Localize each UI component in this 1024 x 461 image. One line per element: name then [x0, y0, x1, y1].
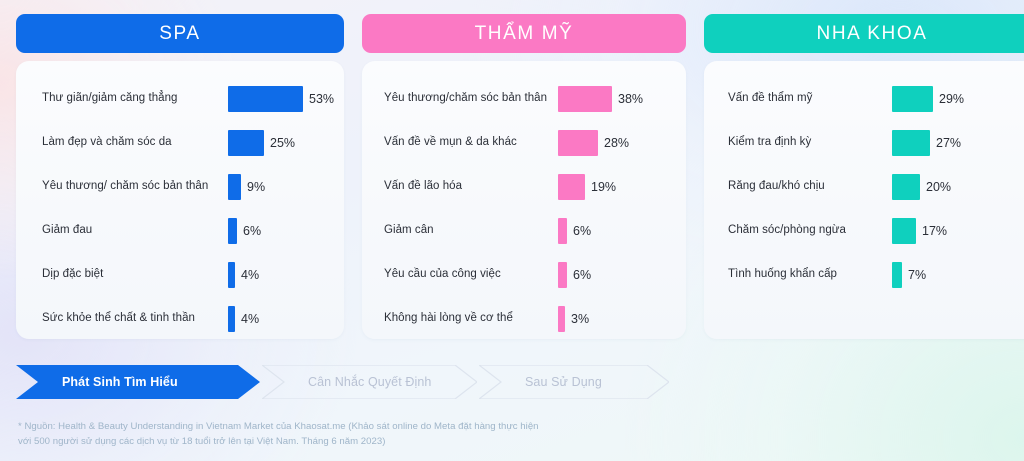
bar-list-nha-khoa: Vấn đề thẩm mỹ29%Kiểm tra định kỳ27%Răng… — [704, 77, 1024, 297]
panel-header-tham-my: THẨM MỸ — [362, 14, 686, 53]
bar-zone: 3% — [558, 306, 589, 332]
bar-list-tham-my: Yêu thương/chăm sóc bản thân38%Vấn đề về… — [362, 77, 686, 341]
bar-row: Kiểm tra định kỳ27% — [704, 121, 1024, 165]
bar-nha-khoa-4 — [892, 262, 902, 288]
bar-row-label: Giảm đau — [42, 223, 222, 239]
bar-tham-my-1 — [558, 130, 598, 156]
bar-zone: 7% — [892, 262, 926, 288]
bar-zone: 6% — [558, 262, 591, 288]
bar-value-label: 7% — [908, 268, 926, 282]
bar-value-label: 19% — [591, 180, 616, 194]
stage-label: Phát Sinh Tìm Hiểu — [16, 375, 178, 389]
bar-row: Vấn đề thẩm mỹ29% — [704, 77, 1024, 121]
bar-row: Yêu thương/ chăm sóc bản thân9% — [16, 165, 344, 209]
panel-title-nha-khoa: NHA KHOA — [817, 23, 928, 45]
bar-zone: 53% — [228, 86, 334, 112]
bar-zone: 20% — [892, 174, 951, 200]
bar-spa-5 — [228, 306, 235, 332]
bar-value-label: 9% — [247, 180, 265, 194]
panel-header-spa: SPA — [16, 14, 344, 53]
bar-tham-my-5 — [558, 306, 565, 332]
panel-header-nha-khoa: NHA KHOA — [704, 14, 1024, 53]
bar-row-label: Chăm sóc/phòng ngừa — [728, 223, 888, 239]
bar-row: Răng đau/khó chịu20% — [704, 165, 1024, 209]
panel-card-spa: Thư giãn/giảm căng thẳng53%Làm đẹp và ch… — [16, 61, 344, 339]
stage-label: Sau Sử Dụng — [479, 375, 602, 389]
stage-chevron-2[interactable]: Sau Sử Dụng — [479, 365, 669, 399]
bar-row: Giảm cân6% — [362, 209, 686, 253]
bar-zone: 4% — [228, 262, 259, 288]
bar-nha-khoa-1 — [892, 130, 930, 156]
bar-row-label: Dịp đặc biệt — [42, 267, 222, 283]
bar-row: Làm đẹp và chăm sóc da25% — [16, 121, 344, 165]
bar-zone: 9% — [228, 174, 265, 200]
bar-value-label: 20% — [926, 180, 951, 194]
footnote-line-1: * Nguồn: Health & Beauty Understanding i… — [18, 420, 698, 435]
bar-zone: 25% — [228, 130, 295, 156]
panel-tham-my: THẨM MỸ Yêu thương/chăm sóc bản thân38%V… — [362, 14, 686, 339]
panel-spa: SPA Thư giãn/giảm căng thẳng53%Làm đẹp v… — [16, 14, 344, 339]
bar-row-label: Không hài lòng về cơ thể — [384, 311, 556, 327]
footnote: * Nguồn: Health & Beauty Understanding i… — [18, 420, 698, 450]
bar-row: Yêu cầu của công việc6% — [362, 253, 686, 297]
bar-row: Yêu thương/chăm sóc bản thân38% — [362, 77, 686, 121]
bar-tham-my-4 — [558, 262, 567, 288]
panel-nha-khoa: NHA KHOA Vấn đề thẩm mỹ29%Kiểm tra định … — [704, 14, 1024, 339]
bar-spa-2 — [228, 174, 241, 200]
bar-row-label: Răng đau/khó chịu — [728, 179, 888, 195]
bar-zone: 27% — [892, 130, 961, 156]
bar-row: Vấn đề về mụn & da khác28% — [362, 121, 686, 165]
bar-zone: 28% — [558, 130, 629, 156]
bar-row: Giảm đau6% — [16, 209, 344, 253]
bar-row: Vấn đề lão hóa19% — [362, 165, 686, 209]
bar-value-label: 6% — [243, 224, 261, 238]
bar-row: Sức khỏe thể chất & tinh thần4% — [16, 297, 344, 341]
bar-nha-khoa-0 — [892, 86, 933, 112]
journey-stage-strip: Phát Sinh Tìm HiểuCân Nhắc Quyết ĐịnhSau… — [16, 365, 671, 399]
bar-zone: 6% — [558, 218, 591, 244]
bar-row-label: Vấn đề về mụn & da khác — [384, 135, 556, 151]
panel-title-tham-my: THẨM MỸ — [475, 23, 574, 45]
stage-chevron-0[interactable]: Phát Sinh Tìm Hiểu — [16, 365, 260, 399]
bar-row-label: Kiểm tra định kỳ — [728, 135, 888, 151]
panel-card-tham-my: Yêu thương/chăm sóc bản thân38%Vấn đề về… — [362, 61, 686, 339]
bar-list-spa: Thư giãn/giảm căng thẳng53%Làm đẹp và ch… — [16, 77, 344, 341]
bar-row-label: Giảm cân — [384, 223, 556, 239]
bar-spa-1 — [228, 130, 264, 156]
bar-value-label: 28% — [604, 136, 629, 150]
bar-zone: 17% — [892, 218, 947, 244]
bar-spa-3 — [228, 218, 237, 244]
bar-row: Thư giãn/giảm căng thẳng53% — [16, 77, 344, 121]
bar-value-label: 4% — [241, 268, 259, 282]
bar-row-label: Vấn đề lão hóa — [384, 179, 556, 195]
bar-zone: 4% — [228, 306, 259, 332]
stage-chevron-1[interactable]: Cân Nhắc Quyết Định — [262, 365, 477, 399]
bar-value-label: 25% — [270, 136, 295, 150]
bar-zone: 38% — [558, 86, 643, 112]
bar-row-label: Làm đẹp và chăm sóc da — [42, 135, 222, 151]
footnote-line-2: với 500 người sử dụng các dịch vụ từ 18 … — [18, 435, 698, 450]
bar-spa-0 — [228, 86, 303, 112]
bar-value-label: 53% — [309, 92, 334, 106]
bar-spa-4 — [228, 262, 235, 288]
infographic-canvas: SPA Thư giãn/giảm căng thẳng53%Làm đẹp v… — [0, 0, 1024, 461]
bar-value-label: 6% — [573, 224, 591, 238]
bar-value-label: 4% — [241, 312, 259, 326]
bar-value-label: 17% — [922, 224, 947, 238]
bar-row-label: Sức khỏe thể chất & tinh thần — [42, 311, 222, 327]
stage-label: Cân Nhắc Quyết Định — [262, 375, 432, 389]
bar-nha-khoa-2 — [892, 174, 920, 200]
bar-row-label: Vấn đề thẩm mỹ — [728, 91, 888, 107]
panel-title-spa: SPA — [159, 23, 200, 45]
bar-row-label: Yêu thương/chăm sóc bản thân — [384, 91, 556, 107]
bar-tham-my-2 — [558, 174, 585, 200]
bar-tham-my-0 — [558, 86, 612, 112]
bar-row-label: Yêu thương/ chăm sóc bản thân — [42, 179, 222, 195]
bar-row-label: Thư giãn/giảm căng thẳng — [42, 91, 222, 107]
bar-value-label: 3% — [571, 312, 589, 326]
bar-value-label: 6% — [573, 268, 591, 282]
bar-row: Tình huống khẩn cấp7% — [704, 253, 1024, 297]
bar-value-label: 29% — [939, 92, 964, 106]
bar-row-label: Yêu cầu của công việc — [384, 267, 556, 283]
bar-nha-khoa-3 — [892, 218, 916, 244]
bar-value-label: 38% — [618, 92, 643, 106]
bar-zone: 6% — [228, 218, 261, 244]
bar-row-label: Tình huống khẩn cấp — [728, 267, 888, 283]
bar-zone: 29% — [892, 86, 964, 112]
bar-row: Không hài lòng về cơ thể3% — [362, 297, 686, 341]
bar-zone: 19% — [558, 174, 616, 200]
bar-value-label: 27% — [936, 136, 961, 150]
bar-row: Dịp đặc biệt4% — [16, 253, 344, 297]
bar-tham-my-3 — [558, 218, 567, 244]
bar-row: Chăm sóc/phòng ngừa17% — [704, 209, 1024, 253]
panel-card-nha-khoa: Vấn đề thẩm mỹ29%Kiểm tra định kỳ27%Răng… — [704, 61, 1024, 339]
